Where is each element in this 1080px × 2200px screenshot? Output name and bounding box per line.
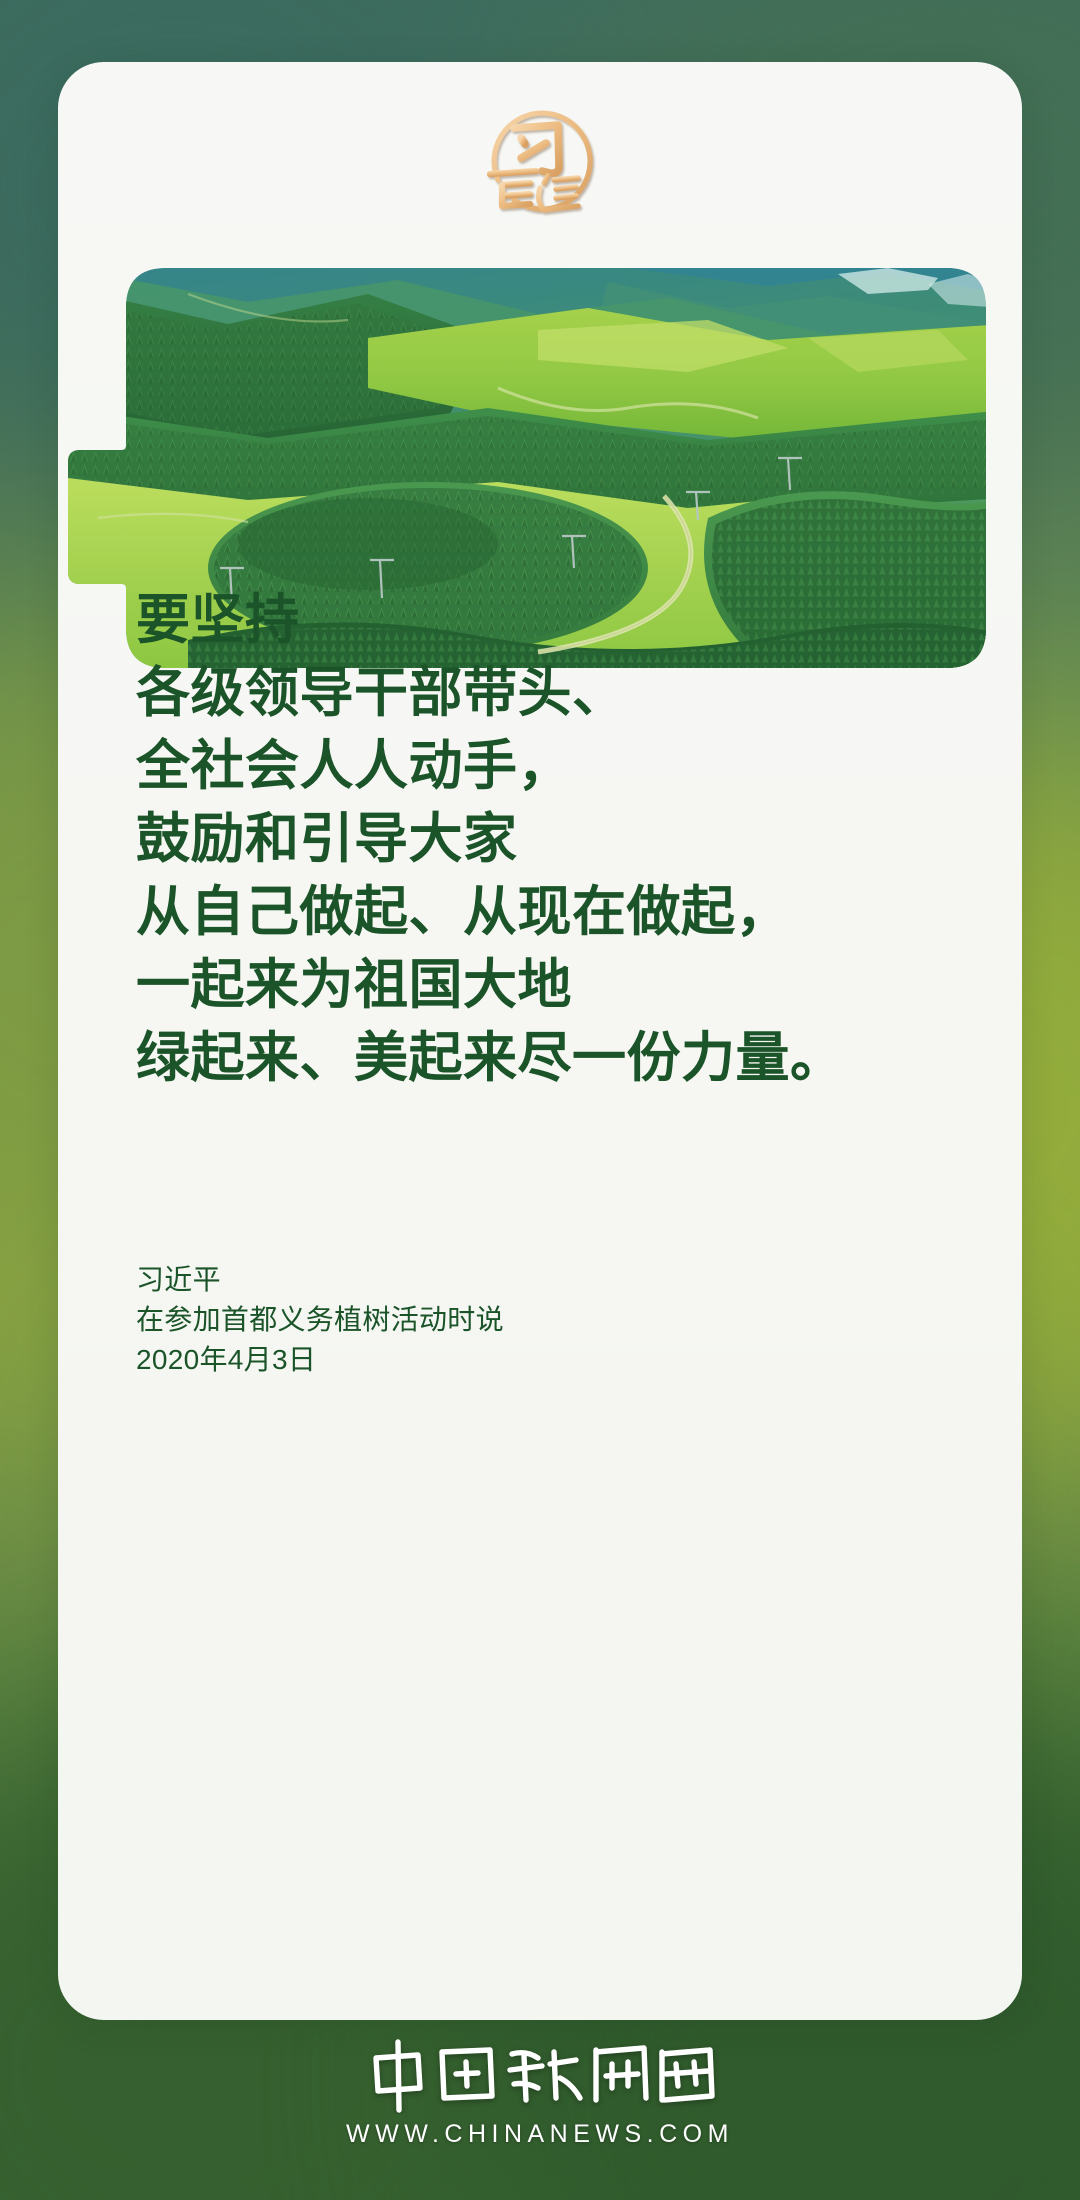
- attribution-occasion: 在参加首都义务植树活动时说: [136, 1300, 896, 1340]
- poster-root: 要坚持 各级领导干部带头、 全社会人人动手， 鼓励和引导大家 从自己做起、从现在…: [0, 0, 1080, 2200]
- quote-line: 绿起来、美起来尽一份力量。: [136, 1022, 956, 1095]
- quote-line: 要坚持: [136, 584, 956, 657]
- chinanews-wordmark-icon: [360, 2038, 720, 2114]
- attribution-block: 习近平 在参加首都义务植树活动时说 2020年4月3日: [136, 1260, 896, 1380]
- quote-line: 一起来为祖国大地: [136, 949, 956, 1022]
- xi-yan-dao-seal-icon: [474, 88, 606, 220]
- content-card: 要坚持 各级领导干部带头、 全社会人人动手， 鼓励和引导大家 从自己做起、从现在…: [58, 62, 1022, 2020]
- quote-line: 全社会人人动手，: [136, 730, 956, 803]
- seal-logo-container: [58, 80, 1022, 228]
- quote-line: 各级领导干部带头、: [136, 657, 956, 730]
- attribution-date: 2020年4月3日: [136, 1340, 896, 1380]
- chinanews-url: WWW.CHINANEWS.COM: [346, 2120, 734, 2149]
- quote-block: 要坚持 各级领导干部带头、 全社会人人动手， 鼓励和引导大家 从自己做起、从现在…: [136, 584, 956, 1095]
- brand-footer: WWW.CHINANEWS.COM: [0, 2038, 1080, 2149]
- quote-line: 鼓励和引导大家: [136, 803, 956, 876]
- attribution-speaker: 习近平: [136, 1260, 896, 1300]
- quote-line: 从自己做起、从现在做起，: [136, 876, 956, 949]
